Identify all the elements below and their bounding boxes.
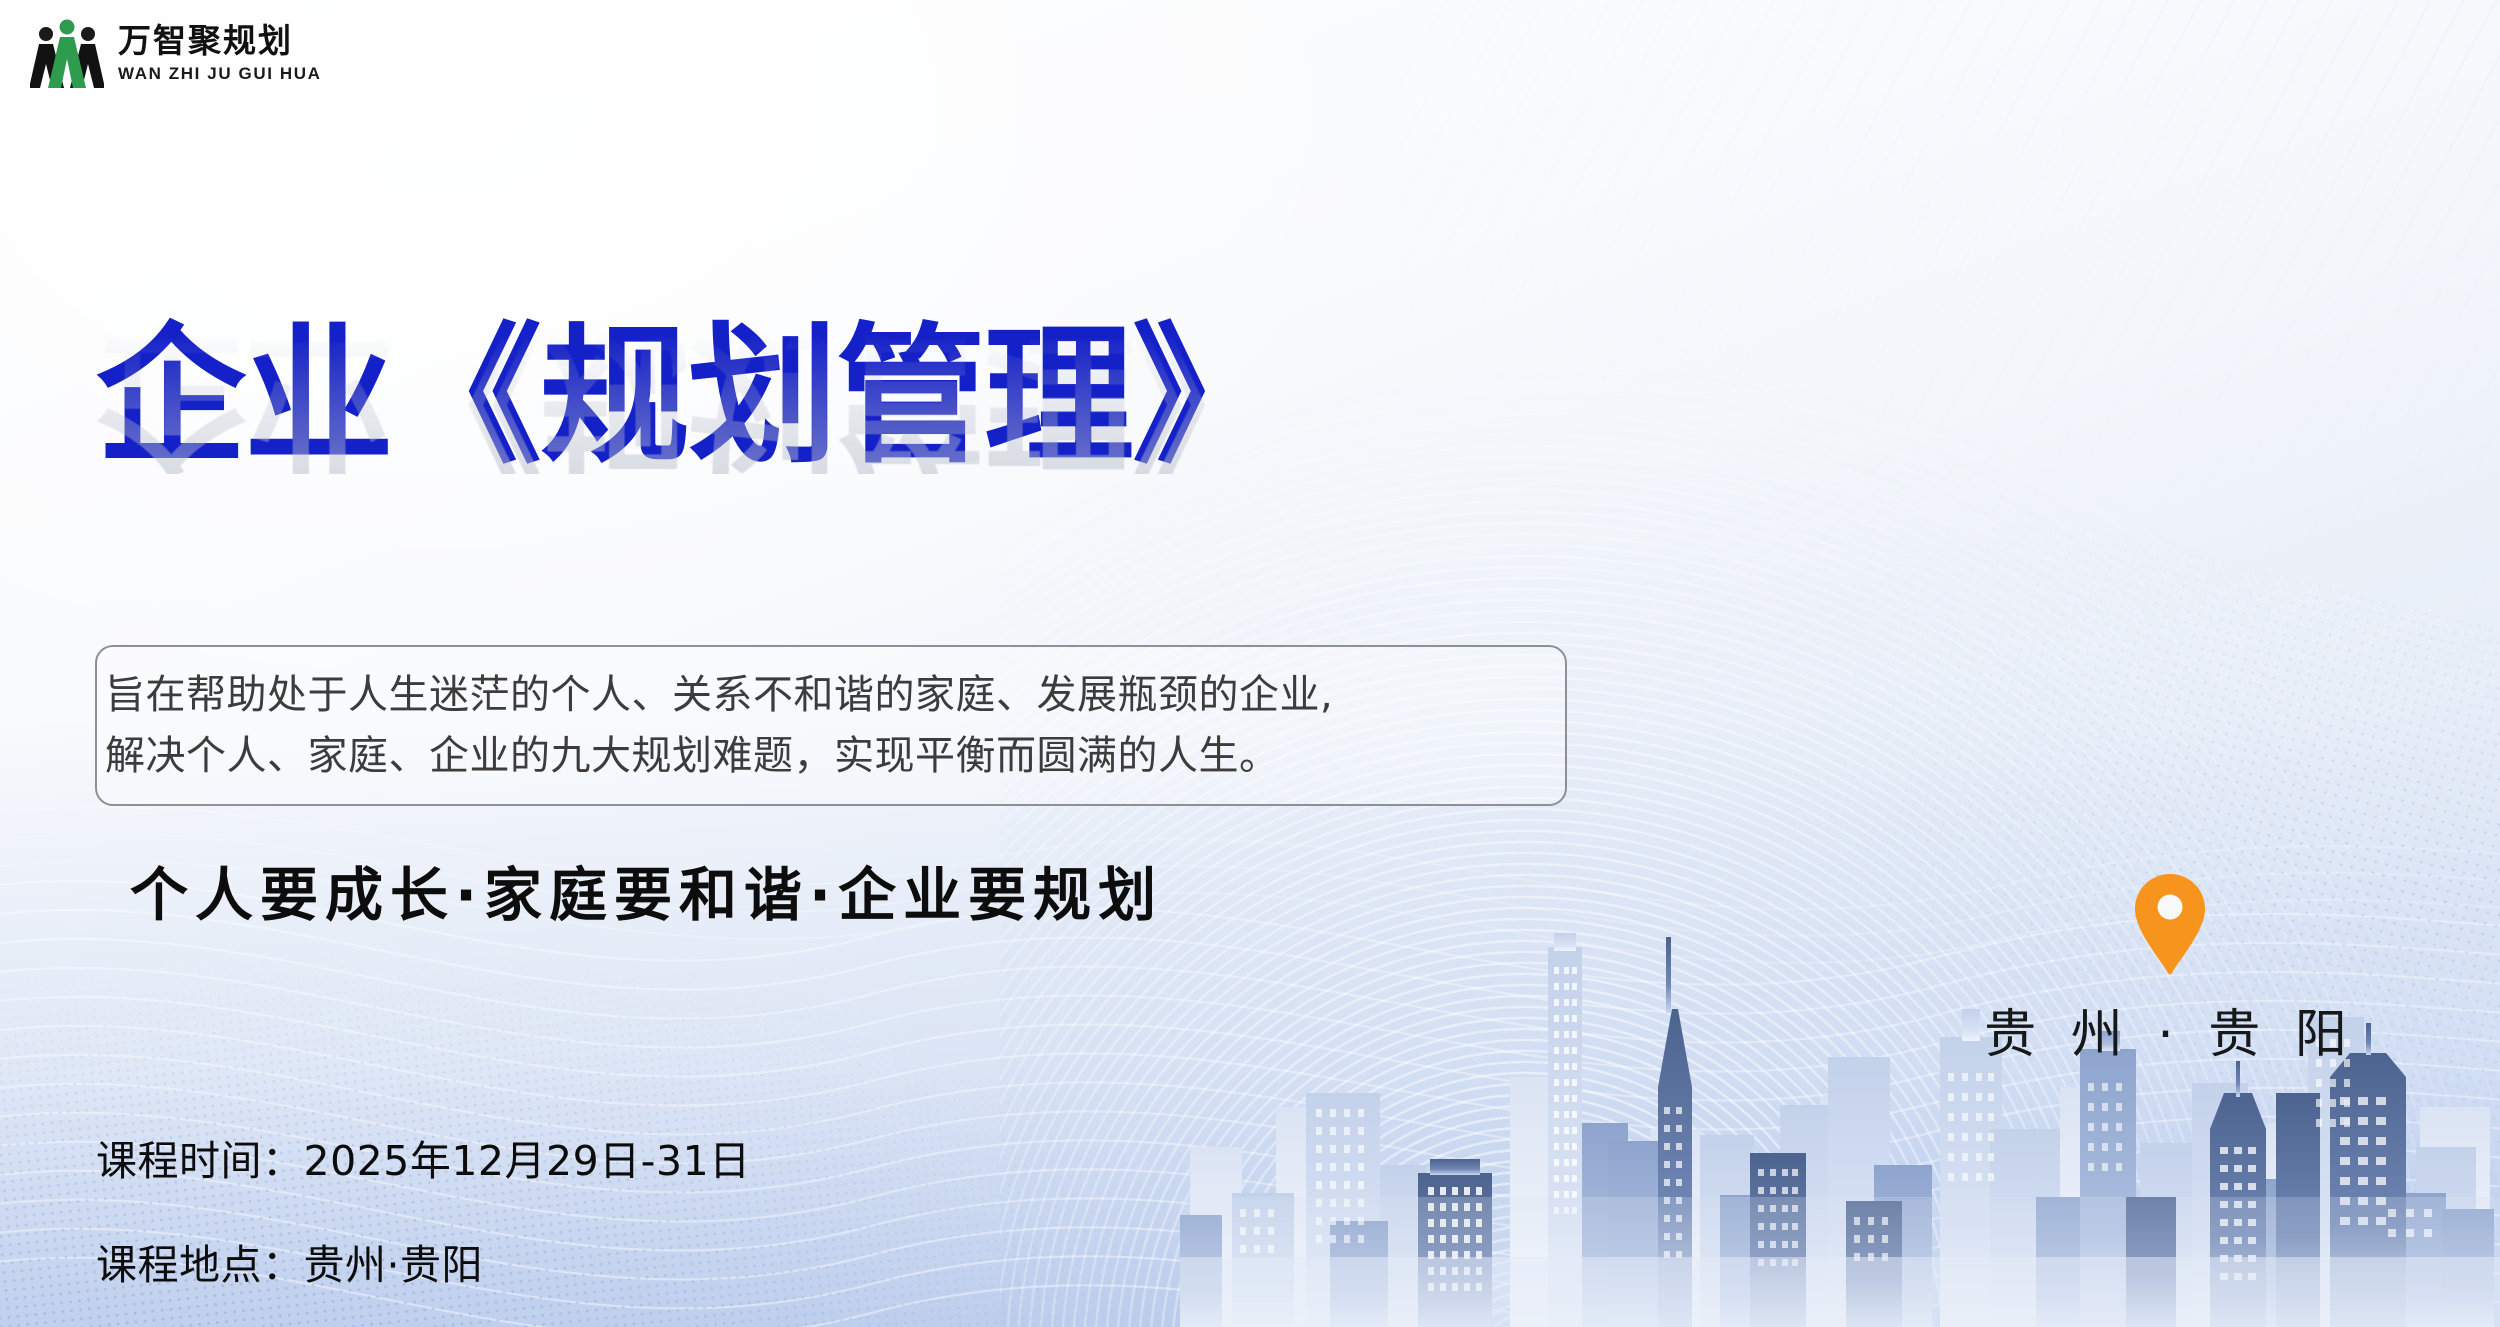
- description-box: 旨在帮助处于人生迷茫的个人、关系不和谐的家庭、发展瓶颈的企业, 解决个人、家庭、…: [95, 645, 1567, 806]
- location-label: 贵 州 · 贵 阳: [1984, 992, 2356, 1067]
- location-block: 贵 州 · 贵 阳: [1960, 872, 2380, 1067]
- brand-name-cn: 万智聚规划: [118, 24, 322, 61]
- page-title-reflection: 企业《规划管理》: [96, 324, 1696, 474]
- poster-canvas: 万智聚规划 WAN ZHI JU GUI HUA 企业《规划管理》 企业《规划管…: [0, 0, 2500, 1327]
- three-people-m-logo-icon: [30, 18, 104, 90]
- brand-name-pinyin: WAN ZHI JU GUI HUA: [118, 64, 322, 84]
- map-pin-icon: [2131, 872, 2209, 976]
- course-info-block: 课程时间：2025年12月29日-31日 课程地点：贵州·贵阳: [96, 1127, 751, 1291]
- description-line-2: 解决个人、家庭、企业的九大规划难题，实现平衡而圆满的人生。: [105, 726, 1559, 787]
- slogan-text: 个人要成长·家庭要和谐·企业要规划: [130, 848, 1163, 932]
- course-place-line: 课程地点：贵州·贵阳: [96, 1231, 751, 1291]
- brand-logo[interactable]: 万智聚规划 WAN ZHI JU GUI HUA: [30, 18, 322, 90]
- brand-logo-text: 万智聚规划 WAN ZHI JU GUI HUA: [118, 24, 322, 84]
- course-time-line: 课程时间：2025年12月29日-31日: [96, 1127, 751, 1187]
- hero-title-block: 企业《规划管理》 企业《规划管理》: [96, 322, 1696, 632]
- description-line-1: 旨在帮助处于人生迷茫的个人、关系不和谐的家庭、发展瓶颈的企业,: [105, 665, 1559, 726]
